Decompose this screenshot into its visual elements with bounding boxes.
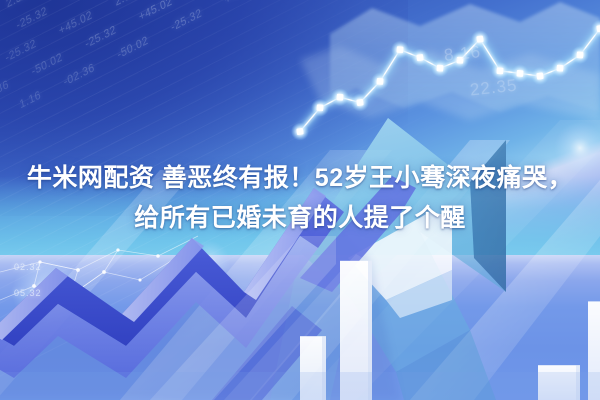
mini-number-top: 02.32: [14, 262, 42, 272]
chart-node-marker: [337, 94, 344, 101]
banner-image: -02.36-50.02-25.32+45.02-11.25-02.3621.0…: [0, 0, 600, 400]
chart-node-marker: [497, 67, 504, 74]
headline-block: 牛米网配资 善恶终有报！52岁王小骞深夜痛哭， 给所有已婚未育的人提了个醒: [0, 158, 600, 238]
chart-node-marker: [557, 65, 564, 72]
chart-node-marker: [397, 46, 404, 53]
chart-node-marker: [377, 78, 384, 85]
chart-node-marker: [317, 104, 324, 111]
mini-number-bottom: 05.32: [14, 288, 42, 298]
chart-node-marker: [296, 128, 303, 135]
chart-node-marker: [517, 70, 524, 77]
headline-line-2: 给所有已婚未育的人提了个醒: [14, 198, 586, 238]
big-number-one: 8.16: [443, 42, 482, 66]
chart-node-marker: [416, 54, 423, 61]
chart-node-marker: [356, 99, 363, 106]
chart-node-marker: [437, 65, 444, 72]
headline-line-1: 牛米网配资 善恶终有报！52岁王小骞深夜痛哭，: [14, 158, 586, 198]
chart-node-marker: [577, 51, 584, 58]
chart-node-marker: [536, 72, 543, 79]
